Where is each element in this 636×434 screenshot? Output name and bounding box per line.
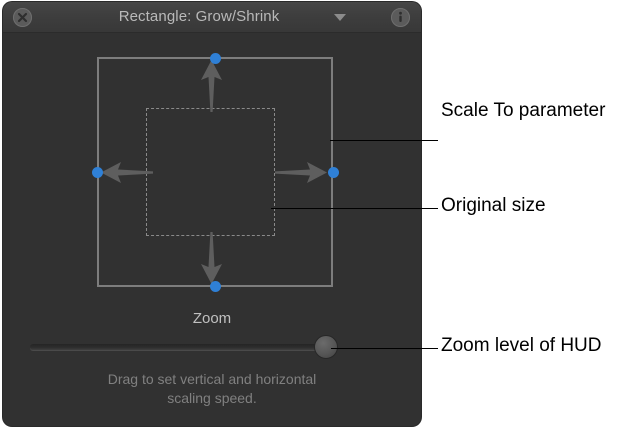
original-size-rect (146, 108, 275, 236)
handle-left[interactable] (92, 167, 103, 178)
hud-canvas: Zoom Drag to set vertical and horizontal… (3, 32, 421, 426)
handle-bottom[interactable] (210, 281, 221, 292)
info-circle-icon[interactable] (391, 8, 410, 27)
chevron-down-icon[interactable] (334, 14, 346, 21)
zoom-slider-label: Zoom (3, 310, 421, 327)
hud-hint-line-2: scaling speed. (3, 389, 421, 408)
leader-line-original-size (271, 208, 438, 209)
leader-line-zoom-level (331, 348, 438, 349)
zoom-slider-thumb[interactable] (314, 335, 338, 359)
handle-top[interactable] (210, 53, 221, 64)
screenshot-root: Rectangle: Grow/Shrink (0, 0, 636, 434)
callout-original-size: Original size (441, 195, 546, 217)
callout-scale-to-parameter: Scale To parameter (441, 100, 605, 122)
callout-zoom-level-of-hud: Zoom level of HUD (441, 335, 602, 357)
arrow-left-icon (101, 160, 153, 190)
hud-titlebar: Rectangle: Grow/Shrink (3, 2, 421, 33)
arrow-down-icon (199, 232, 224, 289)
hud-window: Rectangle: Grow/Shrink (3, 2, 421, 426)
hud-title: Rectangle: Grow/Shrink (3, 2, 421, 31)
leader-line-scale-to-parameter (330, 140, 438, 141)
handle-right[interactable] (328, 167, 339, 178)
arrow-right-icon (275, 160, 327, 190)
hud-hint-text: Drag to set vertical and horizontal scal… (3, 370, 421, 408)
hud-hint-line-1: Drag to set vertical and horizontal (3, 370, 421, 389)
zoom-slider-track[interactable] (30, 344, 332, 350)
arrow-up-icon (199, 60, 224, 117)
